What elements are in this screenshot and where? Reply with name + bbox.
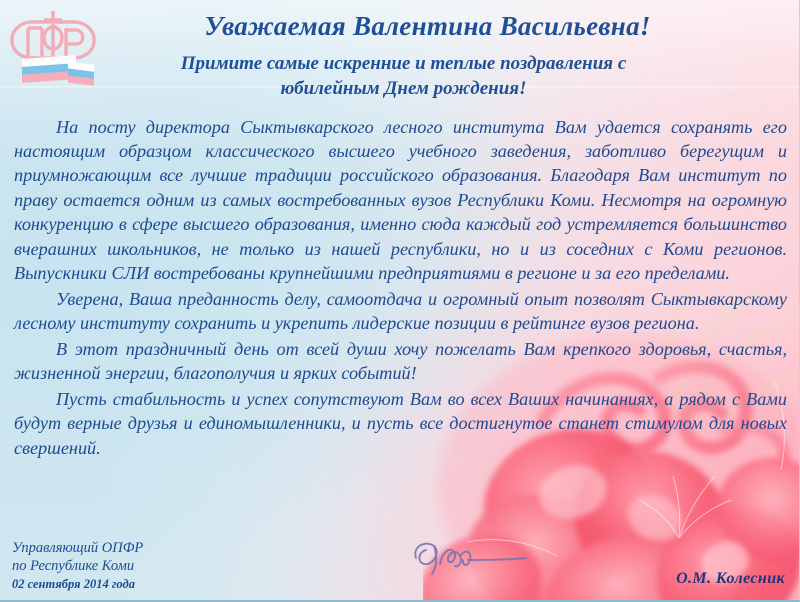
handwritten-signature xyxy=(408,534,608,580)
body-paragraph: Уверена, Ваша преданность делу, самоотда… xyxy=(14,287,787,336)
signature-block: Управляющий ОПФР по Республике Коми 02 с… xyxy=(12,532,787,594)
body-paragraph: В этот праздничный день от всей души хоч… xyxy=(14,337,787,386)
page-title: Уважаемая Валентина Васильевна! xyxy=(66,11,789,42)
subtitle: Примите самые искренние и теплые поздрав… xyxy=(52,51,755,102)
signatory-name: О.М. Колесник xyxy=(676,570,785,588)
subtitle-line-2: юбилейным Днем рождения! xyxy=(52,76,755,101)
body-paragraph: Пусть стабильность и успех сопутствуют В… xyxy=(14,387,787,460)
subtitle-line-1: Примите самые искренние и теплые поздрав… xyxy=(52,51,755,76)
congratulation-card: Уважаемая Валентина Васильевна! Примите … xyxy=(0,0,800,602)
signatory-role: Управляющий ОПФР по Республике Коми 02 с… xyxy=(12,539,143,592)
letter-body: На посту директора Сыктывкарского лесног… xyxy=(14,115,787,461)
letter-date: 02 сентября 2014 года xyxy=(12,576,143,592)
signatory-role-line-1: Управляющий ОПФР xyxy=(12,539,143,558)
letter-content: Уважаемая Валентина Васильевна! Примите … xyxy=(12,0,789,460)
body-paragraph: На посту директора Сыктывкарского лесног… xyxy=(14,115,787,286)
signatory-role-line-2: по Республике Коми xyxy=(12,557,143,576)
